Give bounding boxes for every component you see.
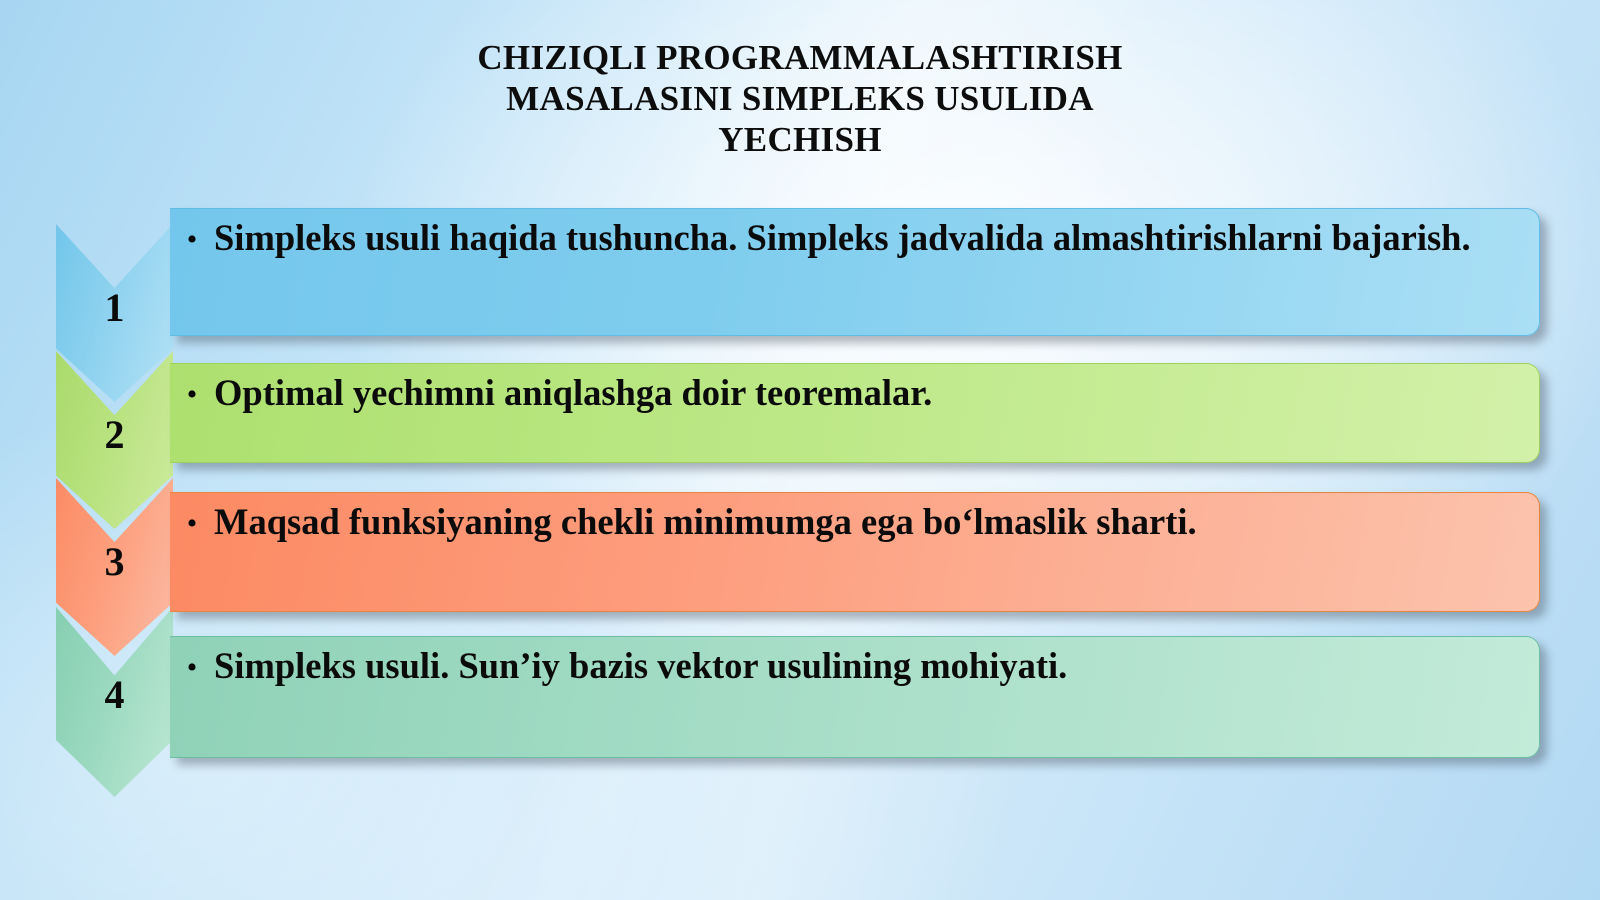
- agenda-text-4: Simpleks usuli. Sun’iy bazis vektor usul…: [214, 637, 1539, 688]
- chevron-number-1: 1: [56, 288, 173, 328]
- chevron-number-2: 2: [56, 415, 173, 455]
- slide-title: CHIZIQLI PROGRAMMALASHTIRISH MASALASINI …: [340, 38, 1260, 161]
- agenda-bar-2[interactable]: • Optimal yechimni aniqlashga doir teore…: [170, 363, 1540, 463]
- bullet-icon: •: [170, 493, 214, 539]
- slide-title-line-1: CHIZIQLI PROGRAMMALASHTIRISH: [340, 38, 1260, 79]
- chevron-number-3: 3: [56, 542, 173, 582]
- agenda-bar-4[interactable]: • Simpleks usuli. Sun’iy bazis vektor us…: [170, 636, 1540, 758]
- bullet-icon: •: [170, 364, 214, 410]
- slide-canvas: CHIZIQLI PROGRAMMALASHTIRISH MASALASINI …: [0, 0, 1600, 900]
- agenda-text-1: Simpleks usuli haqida tushuncha. Simplek…: [214, 209, 1539, 260]
- chevron-number-4: 4: [56, 675, 173, 715]
- agenda-bar-3[interactable]: • Maqsad funksiyaning chekli minimumga e…: [170, 492, 1540, 612]
- agenda-text-2: Optimal yechimni aniqlashga doir teorema…: [214, 364, 1539, 415]
- bullet-icon: •: [170, 637, 214, 683]
- agenda-bar-1[interactable]: • Simpleks usuli haqida tushuncha. Simpl…: [170, 208, 1540, 336]
- agenda-text-3: Maqsad funksiyaning chekli minimumga ega…: [214, 493, 1539, 544]
- slide-title-line-2: MASALASINI SIMPLEKS USULIDA: [340, 79, 1260, 120]
- bullet-icon: •: [170, 209, 214, 255]
- slide-title-line-3: YECHISH: [340, 120, 1260, 161]
